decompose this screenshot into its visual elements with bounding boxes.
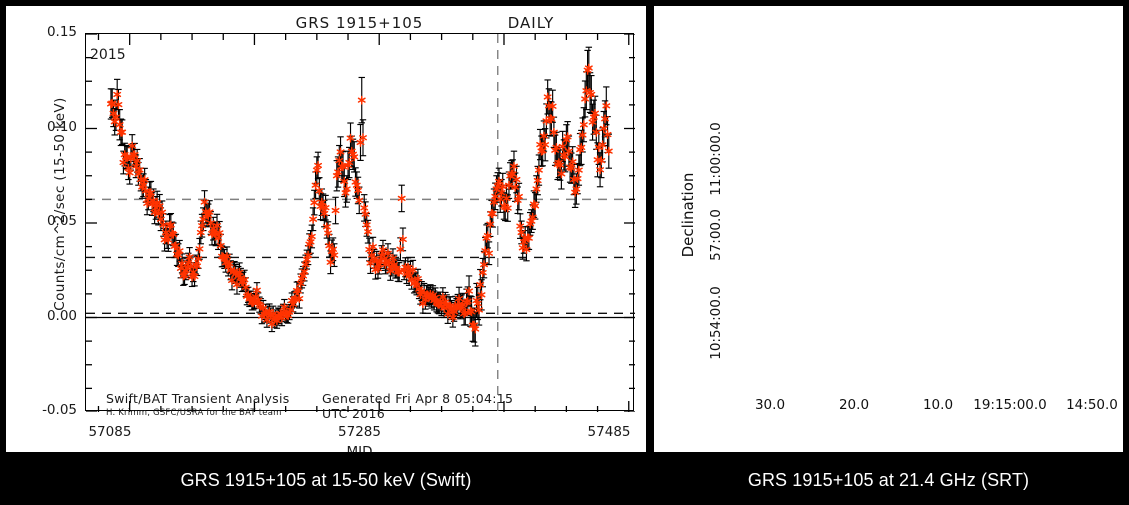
caption-left: GRS 1915+105 at 15-50 keV (Swift) [6,458,646,503]
lightcurve-cadence-label: DAILY [466,14,596,32]
caption-right: GRS 1915+105 at 21.4 GHz (SRT) [654,458,1123,503]
lightcurve-generated-note: Generated Fri Apr 8 05:04:15 UTC 2016 [322,391,538,421]
figure-root: GRS 1915+105 DAILY Counts/cm^2/sec (15-5… [0,0,1129,505]
y-tick-label: 0.10 [25,119,77,135]
lightcurve-analysis-note: Swift/BAT Transient Analysis [106,391,290,406]
y-tick-label: -0.05 [25,402,77,418]
swift-bat-lightcurve-panel: GRS 1915+105 DAILY Counts/cm^2/sec (15-5… [6,6,646,452]
x-tick-label: 57485 [569,424,646,440]
dec-tick-label: 10:54:00.0 [708,263,724,383]
lightcurve-plot-frame [85,33,634,411]
lightcurve-x-axis-label: MJD [85,444,634,452]
ra-tick-label: 14:50.0 [1037,397,1123,413]
y-tick-label: 0.15 [25,24,77,40]
srt-radio-map-panel: Declination Right ascension 11:00:00.057… [654,6,1123,452]
x-tick-label: 57285 [320,424,400,440]
lightcurve-y-axis-label: Counts/cm^2/sec (15-50 keV) [52,74,68,334]
lightcurve-svg [86,34,635,412]
y-tick-label: 0.05 [25,213,77,229]
radiomap-y-axis-label: Declination [679,115,697,315]
x-tick-label: 57085 [70,424,150,440]
lightcurve-year-annotation: 2015 [90,47,126,63]
y-tick-label: 0.00 [25,308,77,324]
lightcurve-credit-note: H. Krimm, GSFC/USRA for the BAT team [106,408,282,418]
